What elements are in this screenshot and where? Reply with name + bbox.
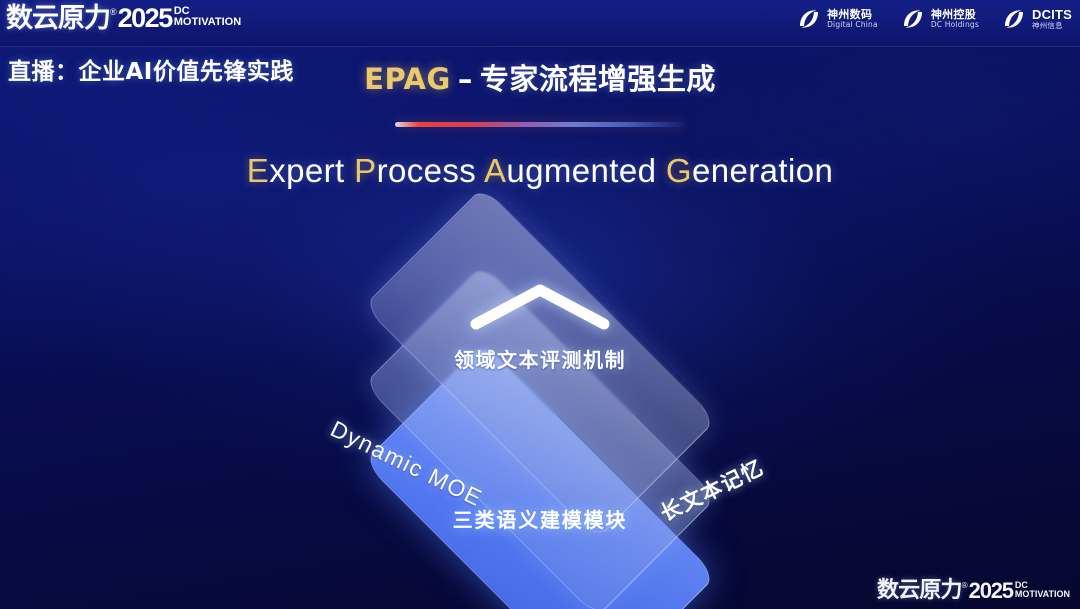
title-acronym: EPAG [364,62,451,96]
partner-logo-dc-holdings: 神州控股 DC Holdings [900,6,979,32]
swirl-logo-icon [1001,6,1027,32]
footer-brand-watermark: 数云原力 ® 2025 DC MOTIVATION [877,580,1070,602]
title-dash: – [458,62,473,96]
swirl-logo-icon [900,6,926,32]
brand-registered-mark: ® [110,7,117,17]
brand-tagline: DC MOTIVATION [174,6,241,28]
watermark-tagline-line2: MOTIVATION [1015,590,1070,599]
subtitle-word-process: Process [354,152,476,189]
watermark-registered-mark: ® [962,581,968,590]
layered-architecture-diagram: 领域文本评测机制 Dynamic MOE 长文本记忆 三类语义建模模块 [260,232,820,562]
title-chinese: 专家流程增强生成 [480,62,716,96]
watermark-tagline: DC MOTIVATION [1015,581,1070,599]
page-subtitle: Expert Process Augmented Generation [0,152,1080,190]
gradient-divider [395,122,685,127]
partner-logo-group: 神州数码 Digital China 神州控股 DC Holdings [796,6,1072,32]
brand-year: 2025 [118,5,172,32]
watermark-name-cn: 数云原力 [877,580,962,602]
subtitle-word-expert: Expert [247,152,345,189]
event-brand-logo: 数云原力 ® 2025 DC MOTIVATION [6,5,241,32]
brand-tagline-line2: MOTIVATION [174,17,241,28]
layer-label-bottom: 三类语义建模模块 [453,504,627,533]
partner-logo-dcits: DCITS 神州信息 [1001,6,1072,32]
watermark-year: 2025 [969,580,1013,602]
brand-name-cn: 数云原力 [6,5,110,32]
partner-name-en: Digital China [827,21,878,29]
partner-logo-digital-china: 神州数码 Digital China [796,6,878,32]
partner-name-cn: 神州信息 [1032,22,1072,30]
slide-root: 数云原力 ® 2025 DC MOTIVATION 直播：企业AI价值先锋实践 … [0,0,1080,609]
live-stream-title: 直播：企业AI价值先锋实践 [8,52,294,86]
subtitle-word-generation: Generation [666,152,833,189]
subtitle-word-augmented: Augmented [484,152,656,189]
partner-name-en: DCITS [1032,8,1072,22]
partner-name-en: DC Holdings [931,21,979,29]
layer-label-top: 领域文本评测机制 [454,344,626,373]
swirl-logo-icon [796,6,822,32]
